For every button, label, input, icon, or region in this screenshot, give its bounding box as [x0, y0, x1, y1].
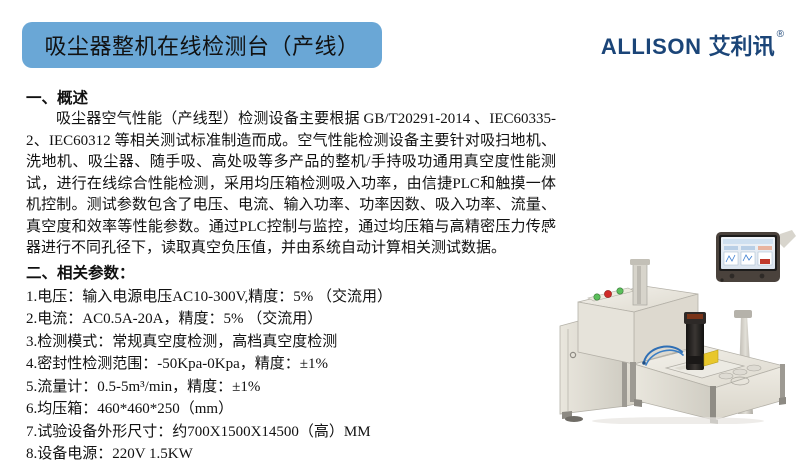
params-heading: 二、相关参数： — [26, 263, 556, 284]
hmi-screen-panel — [724, 252, 738, 265]
emergency-stop-button — [604, 290, 611, 297]
frame-upright — [630, 362, 636, 402]
registered-trademark-icon: ® — [777, 30, 784, 40]
content-body: 一、概述 吸尘器空气性能（产线型）检测设备主要根据 GB/T20291-2014… — [26, 88, 556, 466]
hmi-screen-alarm-block — [760, 259, 770, 264]
frame-upright — [780, 364, 785, 400]
list-item: 2.电流：AC0.5A-20A，精度：5% （交流用） — [26, 308, 556, 331]
list-item: 5.流量计：0.5-5m³/min，精度：±1% — [26, 376, 556, 399]
hmi-screen-field — [758, 246, 772, 250]
list-item: 1.电压：输入电源电压AC10-300V,精度：5% （交流用） — [26, 286, 556, 309]
equipment-photo — [548, 228, 800, 424]
list-item: 4.密封性检测范围：-50Kpa-0Kpa，精度：±1% — [26, 353, 556, 376]
hmi-screen-titlebar — [723, 239, 773, 244]
hmi-button — [760, 274, 765, 279]
list-item: 3.检测模式：常规真空度检测，高档真空度检测 — [26, 331, 556, 354]
hmi-screen-field — [741, 246, 755, 250]
machine-foot — [634, 399, 642, 407]
hmi-screen-field — [724, 246, 738, 250]
list-item: 7.试验设备外形尺寸：约700X1500X14500（高）MM — [26, 421, 556, 444]
overview-paragraph: 吸尘器空气性能（产线型）检测设备主要根据 GB/T20291-2014 、IEC… — [26, 109, 556, 260]
test-port — [719, 373, 733, 379]
brand-chinese-text: 艾利讯 — [709, 36, 775, 58]
hmi-connector — [720, 278, 723, 281]
test-fixture-foot — [688, 356, 702, 364]
actuator-cap — [630, 259, 650, 265]
test-port — [747, 365, 761, 371]
brand-latin-text: ALLISON — [601, 36, 702, 58]
overview-heading: 一、概述 — [26, 88, 556, 109]
list-item: 8.设备电源：220V 1.5KW — [26, 443, 556, 466]
page-title: 吸尘器整机在线检测台（产线） — [44, 29, 359, 61]
hose-fitting — [642, 361, 646, 365]
title-banner: 吸尘器整机在线检测台（产线） — [22, 22, 382, 68]
actuator-rail — [637, 266, 641, 304]
indicator-green-1 — [594, 294, 600, 300]
brand-logo: ALLISON 艾利讯 ® — [601, 36, 784, 58]
list-item: 6.均压箱：460*460*250（mm） — [26, 398, 556, 421]
frame-upright — [710, 386, 716, 422]
indicator-green-2 — [617, 288, 623, 294]
test-port — [733, 369, 747, 375]
caster-wheel — [565, 416, 583, 422]
hmi-button — [730, 274, 735, 279]
params-list: 1.电压：输入电源电压AC10-300V,精度：5% （交流用） 2.电流：AC… — [26, 286, 556, 466]
machine-foot — [779, 397, 786, 405]
slide-page: 吸尘器整机在线检测台（产线） ALLISON 艾利讯 ® 一、概述 吸尘器空气性… — [0, 0, 800, 450]
test-fixture-band — [687, 314, 703, 319]
hmi-post-collar — [734, 310, 752, 318]
